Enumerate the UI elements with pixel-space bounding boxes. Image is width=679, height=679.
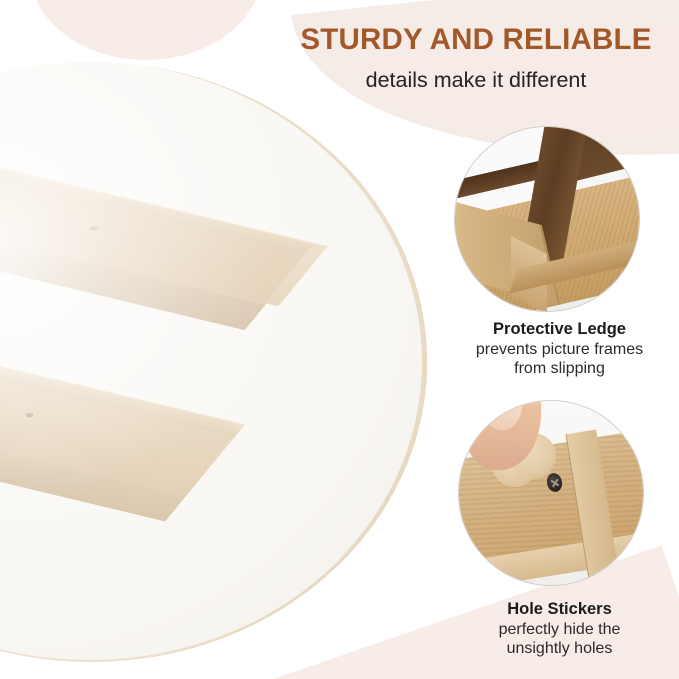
callout-description-line-1: prevents picture frames	[440, 341, 679, 360]
fingernail	[479, 400, 529, 436]
decor-blob-top-left	[30, 0, 262, 60]
callout-title: Hole Stickers	[440, 600, 679, 619]
callout-description-line-1: perfectly hide the	[440, 621, 679, 640]
callout-caption-protective-ledge: Protective Ledge prevents picture frames…	[440, 320, 679, 379]
scene-protective-ledge	[455, 127, 639, 311]
page-title: STURDY AND RELIABLE	[286, 24, 666, 56]
callout-caption-hole-stickers: Hole Stickers perfectly hide the unsight…	[440, 600, 679, 659]
callout-image-protective-ledge	[454, 126, 640, 312]
callout-description-line-2: unsightly holes	[440, 640, 679, 659]
product-infographic: STURDY AND RELIABLE details make it diff…	[0, 0, 679, 679]
scene-hole-stickers	[459, 401, 643, 585]
ledge-shelf-upper	[0, 178, 307, 329]
page-subtitle: details make it different	[286, 68, 666, 94]
hero-product-photo	[0, 62, 427, 662]
callout-title: Protective Ledge	[440, 320, 679, 339]
ledge-shelf-lower	[0, 360, 234, 519]
callout-image-hole-stickers	[458, 400, 644, 586]
callout-description-line-2: from slipping	[440, 360, 679, 379]
